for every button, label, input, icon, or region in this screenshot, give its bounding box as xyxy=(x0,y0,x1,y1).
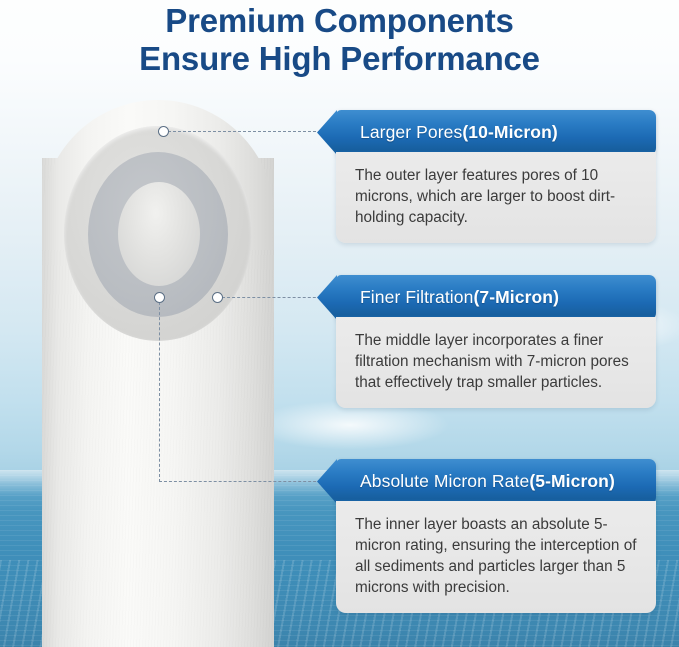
callout-banner-2: Finer Filtration (7-Micron) xyxy=(336,275,656,320)
page-title-line-1: Premium Components xyxy=(0,2,679,40)
callout-title-bold-1: (10-Micron) xyxy=(462,122,557,143)
callout-body-1: The outer layer features pores of 10 mic… xyxy=(336,152,656,243)
marker-dot-middle-layer xyxy=(212,292,223,303)
leader-line-1 xyxy=(168,131,336,132)
callout-body-2: The middle layer incorporates a finer fi… xyxy=(336,317,656,408)
filter-cartridge-image xyxy=(42,100,274,647)
callout-finer-filtration: Finer Filtration (7-Micron) The middle l… xyxy=(336,275,656,408)
marker-dot-outer-layer xyxy=(158,126,169,137)
callout-title-bold-3: (5-Micron) xyxy=(529,471,615,492)
marker-dot-inner-core xyxy=(154,292,165,303)
callout-absolute-micron-rate: Absolute Micron Rate (5-Micron) The inne… xyxy=(336,459,656,613)
callout-banner-3: Absolute Micron Rate (5-Micron) xyxy=(336,459,656,504)
page-title-line-2: Ensure High Performance xyxy=(0,40,679,78)
page-title: Premium Components Ensure High Performan… xyxy=(0,2,679,78)
leader-line-3-horizontal xyxy=(159,481,336,482)
callout-larger-pores: Larger Pores (10-Micron) The outer layer… xyxy=(336,110,656,243)
callout-title-3: Absolute Micron Rate xyxy=(360,471,529,492)
callout-title-bold-2: (7-Micron) xyxy=(473,287,559,308)
inner-core-ring xyxy=(118,182,200,286)
callout-body-3: The inner layer boasts an absolute 5-mic… xyxy=(336,501,656,613)
callout-title-1: Larger Pores xyxy=(360,122,462,143)
callout-title-2: Finer Filtration xyxy=(360,287,473,308)
callout-banner-1: Larger Pores (10-Micron) xyxy=(336,110,656,155)
leader-line-3-vertical xyxy=(159,302,160,482)
